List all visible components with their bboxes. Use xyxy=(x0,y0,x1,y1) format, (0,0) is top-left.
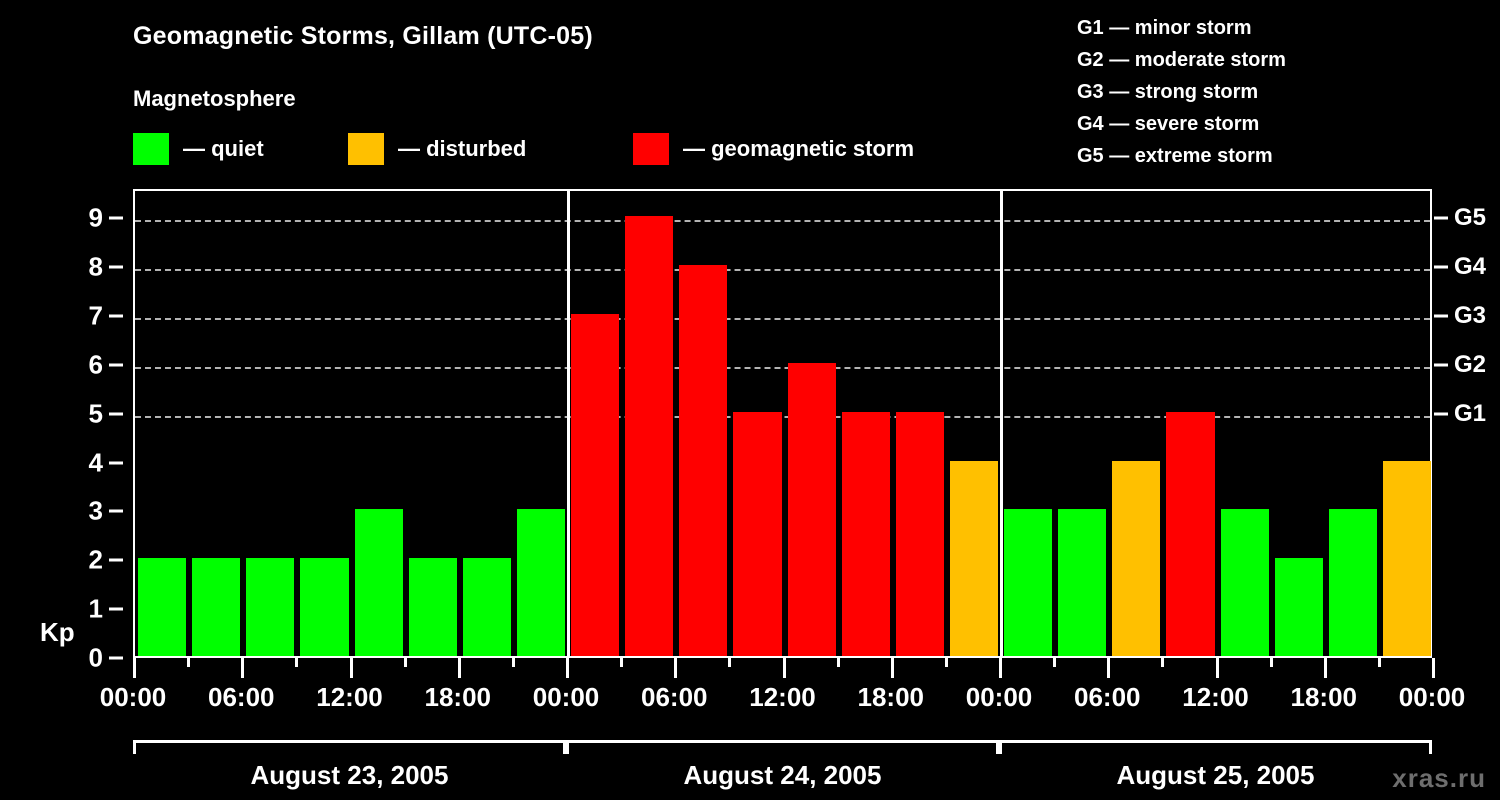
y-tick-label-3: 3 xyxy=(89,496,103,527)
day-separator xyxy=(1000,191,1003,656)
x-tick xyxy=(620,658,623,667)
bar-16 xyxy=(1004,509,1052,656)
gridline-kp-7 xyxy=(135,318,1430,320)
x-tick xyxy=(566,658,569,678)
x-tick xyxy=(350,658,353,678)
bar-5 xyxy=(409,558,457,656)
x-tick xyxy=(1270,658,1273,667)
legend-item-2: — geomagnetic storm xyxy=(633,133,914,165)
x-tick-label-0: 00:00 xyxy=(100,682,167,713)
x-tick xyxy=(891,658,894,678)
y-tick-label-9: 9 xyxy=(89,203,103,234)
day-separator xyxy=(567,191,570,656)
green-square-icon xyxy=(133,133,169,165)
x-tick-label-2: 12:00 xyxy=(316,682,383,713)
gscale-row-5: G5 — extreme storm xyxy=(1077,140,1286,172)
y-tick-2 xyxy=(109,559,123,562)
x-tick xyxy=(1378,658,1381,667)
plot-area xyxy=(133,189,1432,658)
bar-14 xyxy=(896,412,944,656)
y-tick-5 xyxy=(109,412,123,415)
x-tick xyxy=(404,658,407,667)
x-tick xyxy=(1161,658,1164,667)
bar-10 xyxy=(679,265,727,656)
page-title: Geomagnetic Storms, Gillam (UTC-05) xyxy=(133,22,593,51)
bar-4 xyxy=(355,509,403,656)
y-tick-9 xyxy=(109,217,123,220)
orange-square-icon xyxy=(348,133,384,165)
gscale-row-1: G1 — minor storm xyxy=(1077,12,1286,44)
gridline-kp-9 xyxy=(135,220,1430,222)
x-tick xyxy=(295,658,298,667)
x-tick xyxy=(1107,658,1110,678)
x-tick xyxy=(187,658,190,667)
day-bracket-1 xyxy=(566,740,999,754)
y-tick-label-5: 5 xyxy=(89,398,103,429)
y-tick-label-6: 6 xyxy=(89,349,103,380)
legend-item-0: — quiet xyxy=(133,133,264,165)
x-tick-label-4: 00:00 xyxy=(533,682,600,713)
x-tick-label-10: 12:00 xyxy=(1182,682,1249,713)
y-tick-label-1: 1 xyxy=(89,594,103,625)
day-label-0: August 23, 2005 xyxy=(251,760,449,791)
x-axis: 00:0006:0012:0018:0000:0006:0012:0018:00… xyxy=(133,658,1432,728)
red-square-icon xyxy=(633,133,669,165)
legend-item-label: — disturbed xyxy=(398,136,526,162)
x-tick-label-1: 06:00 xyxy=(208,682,275,713)
bar-3 xyxy=(300,558,348,656)
legend-item-1: — disturbed xyxy=(348,133,526,165)
bar-13 xyxy=(842,412,890,656)
day-label-2: August 25, 2005 xyxy=(1117,760,1315,791)
g-tick-G3 xyxy=(1434,315,1448,318)
gridline-kp-5 xyxy=(135,416,1430,418)
x-tick xyxy=(1053,658,1056,667)
x-tick-label-7: 18:00 xyxy=(858,682,925,713)
bar-20 xyxy=(1221,509,1269,656)
bar-23 xyxy=(1383,461,1431,656)
bar-18 xyxy=(1112,461,1160,656)
gscale-legend: G1 — minor stormG2 — moderate stormG3 — … xyxy=(1077,12,1286,172)
x-tick-label-9: 06:00 xyxy=(1074,682,1141,713)
y-tick-7 xyxy=(109,315,123,318)
g-tick-label-G3: G3 xyxy=(1454,302,1486,330)
x-tick xyxy=(837,658,840,667)
legend-item-label: — quiet xyxy=(183,136,264,162)
bar-15 xyxy=(950,461,998,656)
g-tick-label-G4: G4 xyxy=(1454,253,1486,281)
x-tick xyxy=(1324,658,1327,678)
y-tick-label-2: 2 xyxy=(89,545,103,576)
bar-0 xyxy=(138,558,186,656)
bar-22 xyxy=(1329,509,1377,656)
gscale-row-2: G2 — moderate storm xyxy=(1077,44,1286,76)
g-tick-label-G1: G1 xyxy=(1454,400,1486,428)
bar-19 xyxy=(1166,412,1214,656)
y-tick-1 xyxy=(109,608,123,611)
gridline-kp-6 xyxy=(135,367,1430,369)
g-tick-label-G5: G5 xyxy=(1454,204,1486,232)
bar-12 xyxy=(788,363,836,656)
g-tick-G1 xyxy=(1434,412,1448,415)
y-tick-4 xyxy=(109,461,123,464)
bar-8 xyxy=(571,314,619,656)
day-label-1: August 24, 2005 xyxy=(684,760,882,791)
legend-item-label: — geomagnetic storm xyxy=(683,136,914,162)
y-tick-label-7: 7 xyxy=(89,301,103,332)
bar-7 xyxy=(517,509,565,656)
y-tick-3 xyxy=(109,510,123,513)
x-tick xyxy=(674,658,677,678)
bar-2 xyxy=(246,558,294,656)
x-tick-label-3: 18:00 xyxy=(425,682,492,713)
x-tick xyxy=(512,658,515,667)
gscale-row-3: G3 — strong storm xyxy=(1077,76,1286,108)
g-tick-G5 xyxy=(1434,217,1448,220)
bar-17 xyxy=(1058,509,1106,656)
x-tick xyxy=(728,658,731,667)
y-tick-label-4: 4 xyxy=(89,447,103,478)
y-tick-0 xyxy=(109,657,123,660)
x-tick xyxy=(999,658,1002,678)
x-tick xyxy=(458,658,461,678)
y-tick-label-0: 0 xyxy=(89,643,103,674)
y-axis: 0123456789Kp xyxy=(0,189,133,658)
x-tick-label-12: 00:00 xyxy=(1399,682,1466,713)
g-tick-G4 xyxy=(1434,266,1448,269)
day-axis: August 23, 2005August 24, 2005August 25,… xyxy=(133,740,1432,800)
bar-9 xyxy=(625,216,673,656)
x-tick xyxy=(241,658,244,678)
bar-6 xyxy=(463,558,511,656)
y-tick-8 xyxy=(109,266,123,269)
y-tick-6 xyxy=(109,363,123,366)
x-tick-label-6: 12:00 xyxy=(749,682,816,713)
gridline-kp-8 xyxy=(135,269,1430,271)
x-tick xyxy=(783,658,786,678)
x-tick xyxy=(945,658,948,667)
watermark: xras.ru xyxy=(1392,763,1486,794)
x-tick-label-8: 00:00 xyxy=(966,682,1033,713)
x-tick xyxy=(1216,658,1219,678)
g-tick-label-G2: G2 xyxy=(1454,351,1486,379)
bar-11 xyxy=(733,412,781,656)
y-tick-label-8: 8 xyxy=(89,252,103,283)
x-tick xyxy=(1432,658,1435,678)
x-tick-label-5: 06:00 xyxy=(641,682,708,713)
x-tick xyxy=(133,658,136,678)
gscale-row-4: G4 — severe storm xyxy=(1077,108,1286,140)
bar-21 xyxy=(1275,558,1323,656)
y-axis-label: Kp xyxy=(40,617,75,648)
g-axis: G1G2G3G4G5 xyxy=(1432,189,1500,658)
magnetosphere-label: Magnetosphere xyxy=(133,86,296,112)
day-bracket-2 xyxy=(999,740,1432,754)
day-bracket-0 xyxy=(133,740,566,754)
bar-1 xyxy=(192,558,240,656)
g-tick-G2 xyxy=(1434,363,1448,366)
x-tick-label-11: 18:00 xyxy=(1291,682,1358,713)
